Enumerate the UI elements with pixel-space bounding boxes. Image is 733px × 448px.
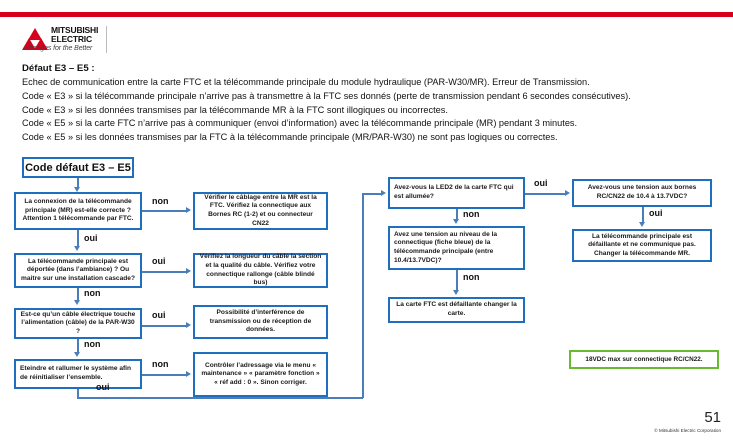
arrow-q5-q6 bbox=[453, 219, 459, 224]
slide-canvas: MITSUBISHI ELECTRIC Changes for the Bett… bbox=[0, 0, 733, 448]
connector-q4-oui-horizontal bbox=[77, 397, 363, 399]
label-oui-q1: oui bbox=[84, 233, 98, 243]
arrow-q6-a6 bbox=[453, 290, 459, 295]
label-non-q6: non bbox=[463, 272, 480, 282]
brand-top-bar bbox=[0, 12, 733, 17]
node-a3: Possibilité d’interférence de transmissi… bbox=[193, 305, 328, 339]
node-a7: La télécommande principale est défaillan… bbox=[572, 229, 712, 262]
arrow-q3-a3 bbox=[186, 322, 191, 328]
node-q5: Avez-vous la LED2 de la carte FTC qui es… bbox=[388, 177, 525, 209]
node-q2: La télécommande principale est déportée … bbox=[14, 253, 142, 288]
node-a4: Contrôler l’adressage via le menu « main… bbox=[193, 352, 328, 397]
node-a2: Vérifiez la longueur du câble la section… bbox=[193, 253, 328, 288]
intro-line-4: Code « E5 » si la carte FTC n’arrive pas… bbox=[22, 118, 722, 130]
label-oui-q4: oui bbox=[96, 382, 110, 392]
arrow-q5-q7 bbox=[565, 190, 570, 196]
intro-line-1: Echec de communication entre la carte FT… bbox=[22, 77, 722, 89]
logo-wordmark-line2: ELECTRIC bbox=[51, 35, 98, 44]
node-a1: Vérifier le câblage entre la MR est la F… bbox=[193, 192, 328, 230]
connector-q1-a1 bbox=[142, 210, 187, 212]
connector-q6-a6 bbox=[456, 270, 458, 290]
intro-line-3: Code « E3 » si les données transmises pa… bbox=[22, 105, 722, 117]
connector-q3-q4 bbox=[77, 339, 79, 353]
page-number: 51 bbox=[704, 409, 721, 426]
arrow-q4-a4 bbox=[186, 371, 191, 377]
label-oui-q3: oui bbox=[152, 310, 166, 320]
node-q6: Avez une tension au niveau de la connect… bbox=[388, 226, 525, 270]
label-oui-q5: oui bbox=[534, 178, 548, 188]
label-non-q2: non bbox=[84, 288, 101, 298]
arrow-q2-q3 bbox=[74, 300, 80, 305]
arrow-q4-q5 bbox=[381, 190, 386, 196]
connector-q4-a4 bbox=[142, 374, 187, 376]
arrow-q2-a2 bbox=[186, 268, 191, 274]
label-non-q1: non bbox=[152, 196, 169, 206]
label-oui-q2: oui bbox=[152, 256, 166, 266]
node-q3: Est-ce qu’un câble électrique touche l’a… bbox=[14, 308, 142, 339]
arrow-q3-q4 bbox=[74, 352, 80, 357]
flow-start-title: Code défaut E3 – E5 bbox=[22, 157, 134, 178]
intro-text-block: Défaut E3 – E5 : Echec de communication … bbox=[22, 63, 722, 146]
intro-line-2: Code « E3 » si la télécommande principal… bbox=[22, 91, 722, 103]
note-voltage-limit: 18VDC max sur connectique RC/CN22. bbox=[569, 350, 719, 369]
label-non-q3: non bbox=[84, 339, 101, 349]
mitsubishi-electric-logo: MITSUBISHI ELECTRIC Changes for the Bett… bbox=[22, 26, 142, 54]
connector-q2-a2 bbox=[142, 271, 187, 273]
connector-q5-q7 bbox=[525, 193, 566, 195]
node-a6: La carte FTC est défaillante changer la … bbox=[388, 297, 525, 323]
node-q1: La connexion de la télécommande principa… bbox=[14, 192, 142, 230]
connector-q3-a3 bbox=[142, 325, 187, 327]
arrow-q1-a1 bbox=[186, 207, 191, 213]
label-oui-q7: oui bbox=[649, 208, 663, 218]
connector-q4-oui-into-q5 bbox=[362, 193, 382, 195]
logo-divider bbox=[106, 26, 107, 53]
arrow-q7-a7 bbox=[639, 222, 645, 227]
connector-q1-q2 bbox=[77, 230, 79, 246]
node-q4: Eteindre et rallumer le système afin de … bbox=[14, 359, 142, 389]
logo-wordmark: MITSUBISHI ELECTRIC bbox=[51, 26, 98, 44]
arrow-q1-q2 bbox=[74, 246, 80, 251]
label-non-q5: non bbox=[463, 209, 480, 219]
logo-tagline: Changes for the Better bbox=[24, 45, 92, 52]
node-q7: Avez-vous une tension aux bornes RC/CN22… bbox=[572, 179, 712, 207]
intro-title: Défaut E3 – E5 : bbox=[22, 63, 722, 74]
connector-q4-oui-up bbox=[362, 193, 364, 398]
label-non-q4: non bbox=[152, 359, 169, 369]
copyright-notice: © Mitsubishi Electric Corporation bbox=[654, 428, 721, 433]
intro-line-5: Code « E5 » si les données transmises pa… bbox=[22, 132, 722, 144]
connector-q7-a7 bbox=[642, 207, 644, 222]
